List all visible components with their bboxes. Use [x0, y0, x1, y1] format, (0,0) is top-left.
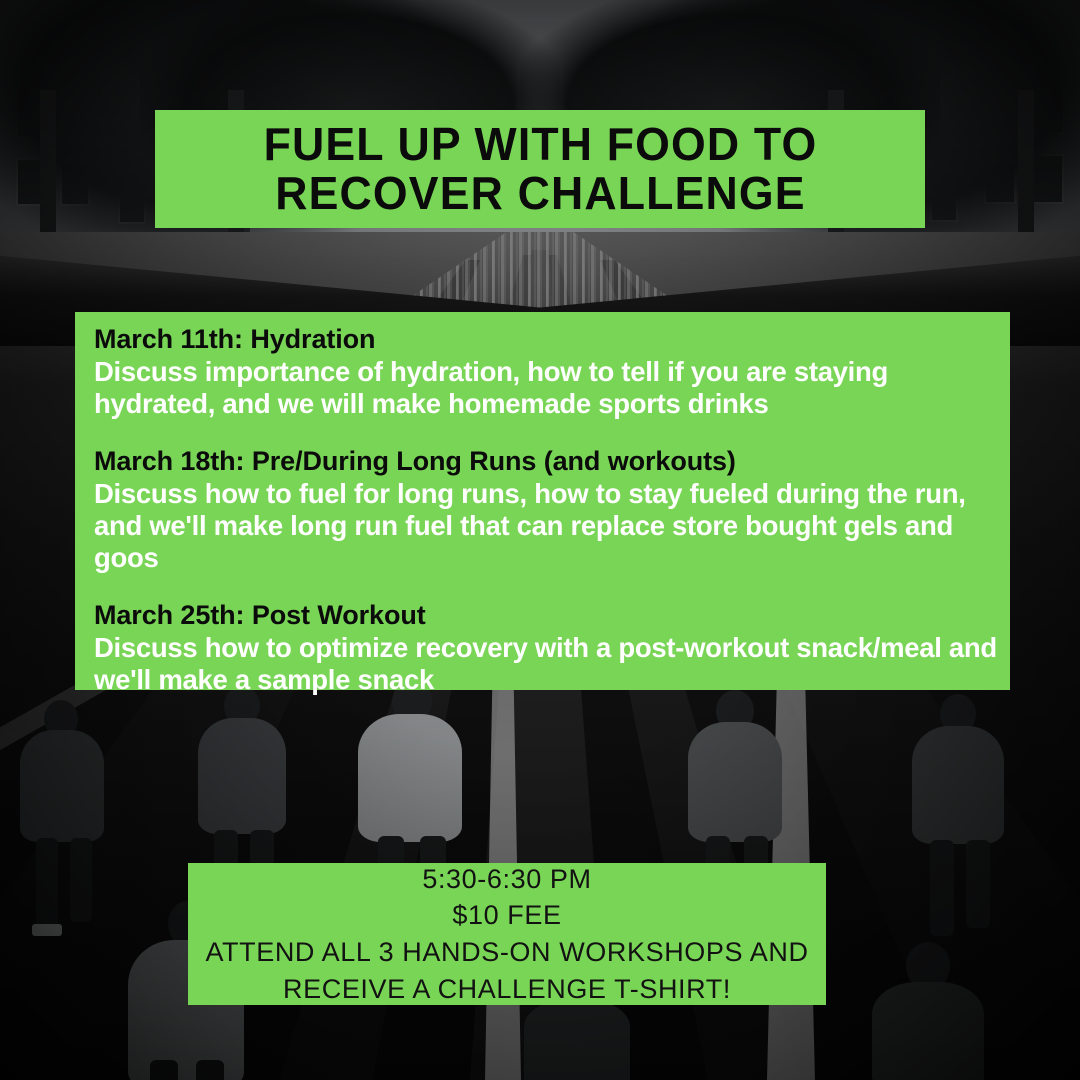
poster-canvas: FUEL UP WITH FOOD TO RECOVER CHALLENGE M… — [0, 0, 1080, 1080]
session-heading: March 18th: Pre/During Long Runs (and wo… — [94, 446, 1006, 477]
session-item: March 18th: Pre/During Long Runs (and wo… — [94, 446, 1006, 574]
details-panel: 5:30-6:30 PM $10 FEE ATTEND ALL 3 HANDS-… — [188, 863, 826, 1005]
session-description: Discuss importance of hydration, how to … — [94, 356, 1006, 420]
event-fee: $10 FEE — [452, 897, 561, 934]
title-panel: FUEL UP WITH FOOD TO RECOVER CHALLENGE — [155, 110, 925, 228]
session-heading: March 11th: Hydration — [94, 324, 1006, 355]
session-item: March 11th: Hydration Discuss importance… — [94, 324, 1006, 420]
sessions-list: March 11th: Hydration Discuss importance… — [94, 324, 1006, 696]
sessions-panel: March 11th: Hydration Discuss importance… — [75, 312, 1010, 690]
session-heading: March 25th: Post Workout — [94, 600, 1006, 631]
event-time: 5:30-6:30 PM — [422, 861, 591, 898]
event-incentive-1: ATTEND ALL 3 HANDS-ON WORKSHOPS AND — [205, 934, 808, 971]
session-description: Discuss how to fuel for long runs, how t… — [94, 478, 1006, 574]
event-incentive-2: RECEIVE A CHALLENGE T-SHIRT! — [283, 971, 731, 1008]
session-description: Discuss how to optimize recovery with a … — [94, 632, 1006, 696]
page-title-line-2: RECOVER CHALLENGE — [275, 169, 805, 218]
page-title-line-1: FUEL UP WITH FOOD TO — [263, 120, 817, 169]
session-item: March 25th: Post Workout Discuss how to … — [94, 600, 1006, 696]
